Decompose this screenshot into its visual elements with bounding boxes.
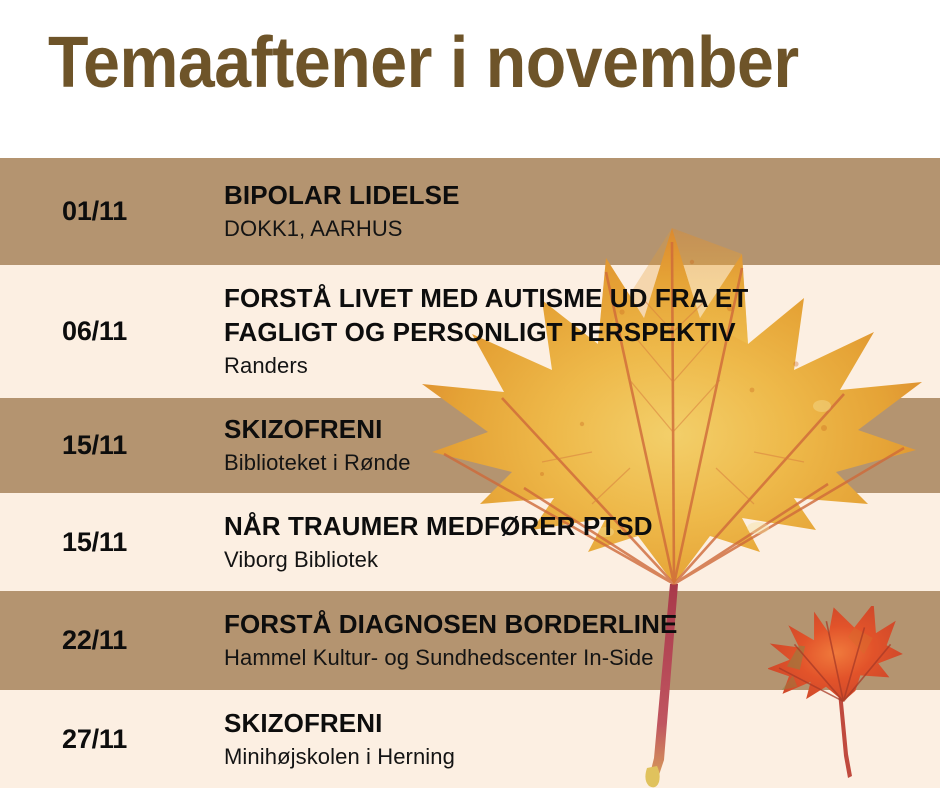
event-row-band xyxy=(0,493,940,591)
poster-header: Temaaftener i november xyxy=(0,0,940,158)
page-title: Temaaftener i november xyxy=(48,26,799,102)
event-row-band xyxy=(0,690,940,788)
event-row-band xyxy=(0,398,940,493)
event-row-band xyxy=(0,265,940,398)
event-row-band xyxy=(0,158,940,265)
poster-canvas: Temaaftener i november 01/11BIPOLAR LIDE… xyxy=(0,0,940,788)
event-row-band xyxy=(0,591,940,690)
event-bands xyxy=(0,158,940,788)
